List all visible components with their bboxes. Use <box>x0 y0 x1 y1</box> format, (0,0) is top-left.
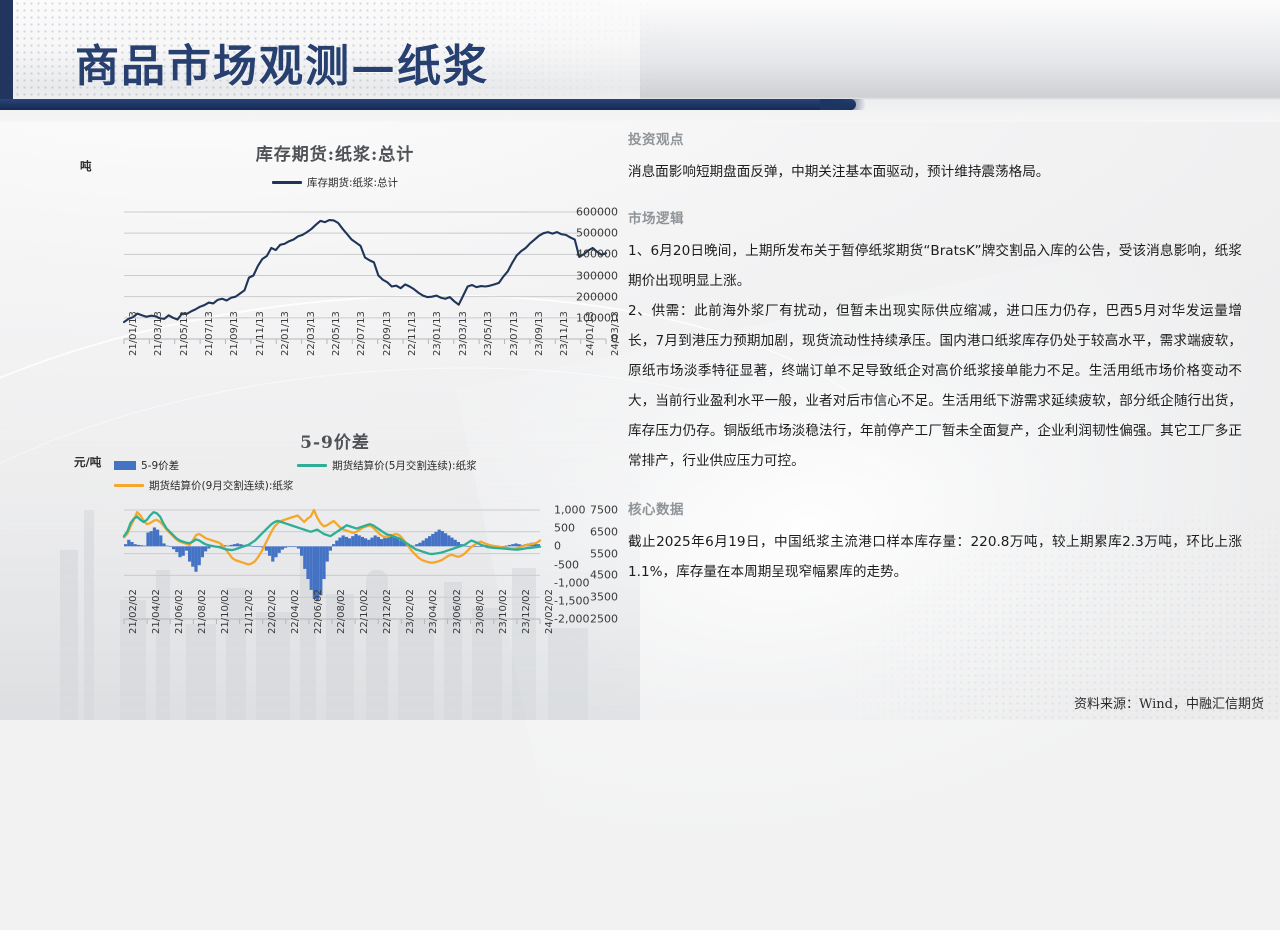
legend-item-spread-bar: 5-9价差 <box>114 458 179 473</box>
spread-y-tick-right: -1,000 <box>554 576 589 589</box>
legend-item-may-contract: 期货结算价(5月交割连续):纸浆 <box>297 458 476 473</box>
x-tick-label: 24/01/13 <box>585 311 596 356</box>
x-tick-label: 23/01/13 <box>432 311 443 356</box>
inventory-legend: 库存期货:纸浆:总计 <box>52 175 618 190</box>
market-logic-paragraph-2: 2、供需：此前海外浆厂有扰动，但暂未出现实际供应缩减，进口压力仍存，巴西5月对华… <box>628 296 1242 476</box>
spread-y-tick-right: 500 <box>554 522 575 535</box>
spread-y-tick-right: -1,500 <box>554 594 589 607</box>
header-right-band <box>640 0 1280 100</box>
x-tick-label: 22/11/13 <box>407 311 418 356</box>
inventory-chart-title: 库存期货:纸浆:总计 <box>52 140 618 165</box>
legend-label: 库存期货:纸浆:总计 <box>307 175 398 190</box>
x-tick-label: 21/02/02 <box>128 589 139 634</box>
x-tick-label: 21/11/13 <box>255 311 266 356</box>
header-navy-rule-tail <box>820 99 866 110</box>
x-tick-label: 22/04/02 <box>290 589 301 634</box>
x-tick-label: 21/09/13 <box>229 311 240 356</box>
spread-x-axis-labels: 21/02/0221/04/0221/06/0221/08/0221/10/02… <box>52 634 618 704</box>
x-tick-label: 21/06/02 <box>174 589 185 634</box>
x-tick-label: 23/06/02 <box>452 589 463 634</box>
x-tick-label: 22/03/13 <box>306 311 317 356</box>
x-tick-label: 23/08/02 <box>475 589 486 634</box>
legend-line-swatch-teal <box>297 464 327 467</box>
commentary-panel: 投资观点 消息面影响短期盘面反弹，中期关注基本面驱动，预计维持震荡格局。 市场逻… <box>628 128 1242 587</box>
legend-line-swatch <box>272 181 302 184</box>
x-tick-label: 22/12/02 <box>382 589 393 634</box>
market-logic-paragraph-1: 1、6月20日晚间，上期所发布关于暂停纸浆期货“BratsK”牌交割品入库的公告… <box>628 236 1242 296</box>
market-logic-heading: 市场逻辑 <box>628 207 1242 227</box>
x-tick-label: 22/05/13 <box>331 311 342 356</box>
x-tick-label: 23/10/02 <box>498 589 509 634</box>
core-data-heading: 核心数据 <box>628 498 1242 518</box>
header-left-accent-bar <box>0 0 13 100</box>
spread-y-tick-right: -500 <box>554 558 579 571</box>
x-tick-label: 22/06/02 <box>313 589 324 634</box>
page-header: 商品市场观测—纸浆 <box>0 0 1280 122</box>
legend-item-inventory: 库存期货:纸浆:总计 <box>272 175 398 190</box>
x-tick-label: 21/12/02 <box>244 589 255 634</box>
x-tick-label: 22/02/02 <box>267 589 278 634</box>
x-tick-label: 23/09/13 <box>534 311 545 356</box>
x-tick-label: 23/04/02 <box>428 589 439 634</box>
x-tick-label: 23/11/13 <box>559 311 570 356</box>
inventory-y-tick: 300000 <box>554 269 618 282</box>
inventory-chart: 库存期货:纸浆:总计 吨 库存期货:纸浆:总计 0100000200000300… <box>52 140 618 420</box>
legend-item-sep-contract: 期货结算价(9月交割连续):纸浆 <box>114 478 293 493</box>
legend-label: 期货结算价(9月交割连续):纸浆 <box>149 478 293 493</box>
x-tick-label: 21/07/13 <box>204 311 215 356</box>
spread-chart: 5-9价差 元/吨 5-9价差 期货结算价(5月交割连续):纸浆 期货结算价(9… <box>52 428 618 718</box>
inventory-y-tick: 400000 <box>554 248 618 261</box>
spread-y-tick-right: 0 <box>554 540 561 553</box>
legend-line-swatch-orange <box>114 484 144 487</box>
inventory-x-axis-labels: 21/01/1321/03/1321/05/1321/07/1321/09/13… <box>52 356 618 418</box>
x-tick-label: 23/07/13 <box>509 311 520 356</box>
x-tick-label: 24/03/13 <box>610 311 621 356</box>
spread-chart-title: 5-9价差 <box>52 428 618 453</box>
x-tick-label: 24/02/02 <box>544 589 555 634</box>
x-tick-label: 22/09/13 <box>382 311 393 356</box>
x-tick-label: 22/10/02 <box>359 589 370 634</box>
spread-legend: 5-9价差 期货结算价(5月交割连续):纸浆 期货结算价(9月交割连续):纸浆 <box>52 458 618 493</box>
x-tick-label: 21/08/02 <box>197 589 208 634</box>
spacer <box>628 476 1242 498</box>
investment-view-body: 消息面影响短期盘面反弹，中期关注基本面驱动，预计维持震荡格局。 <box>628 157 1242 187</box>
spread-y-tick-right: 1,000 <box>554 504 586 517</box>
x-tick-label: 21/03/13 <box>153 311 164 356</box>
x-tick-label: 23/03/13 <box>458 311 469 356</box>
inventory-y-tick: 500000 <box>554 227 618 240</box>
spacer <box>628 187 1242 207</box>
source-note: 资料来源：Wind，中融汇信期货 <box>1074 693 1264 712</box>
x-tick-label: 21/10/02 <box>220 589 231 634</box>
x-tick-label: 23/05/13 <box>483 311 494 356</box>
spread-y-tick-right: -2,000 <box>554 613 589 626</box>
charts-column: 库存期货:纸浆:总计 吨 库存期货:纸浆:总计 0100000200000300… <box>52 132 618 712</box>
inventory-y-tick: 200000 <box>554 290 618 303</box>
x-tick-label: 21/05/13 <box>179 311 190 356</box>
x-tick-label: 22/01/13 <box>280 311 291 356</box>
inventory-y-tick: 600000 <box>554 206 618 219</box>
inventory-y-axis-unit: 吨 <box>80 158 92 174</box>
page-title: 商品市场观测—纸浆 <box>75 30 489 94</box>
investment-view-heading: 投资观点 <box>628 128 1242 148</box>
header-navy-rule <box>0 99 856 110</box>
legend-bar-swatch <box>114 461 136 470</box>
x-tick-label: 22/07/13 <box>356 311 367 356</box>
x-tick-label: 22/08/02 <box>336 589 347 634</box>
legend-label: 5-9价差 <box>141 458 179 473</box>
x-tick-label: 23/12/02 <box>521 589 532 634</box>
core-data-body: 截止2025年6月19日，中国纸浆主流港口样本库存量：220.8万吨，较上期累库… <box>628 527 1242 587</box>
x-tick-label: 21/04/02 <box>151 589 162 634</box>
x-tick-label: 21/01/13 <box>128 311 139 356</box>
legend-label: 期货结算价(5月交割连续):纸浆 <box>332 458 476 473</box>
x-tick-label: 23/02/02 <box>405 589 416 634</box>
